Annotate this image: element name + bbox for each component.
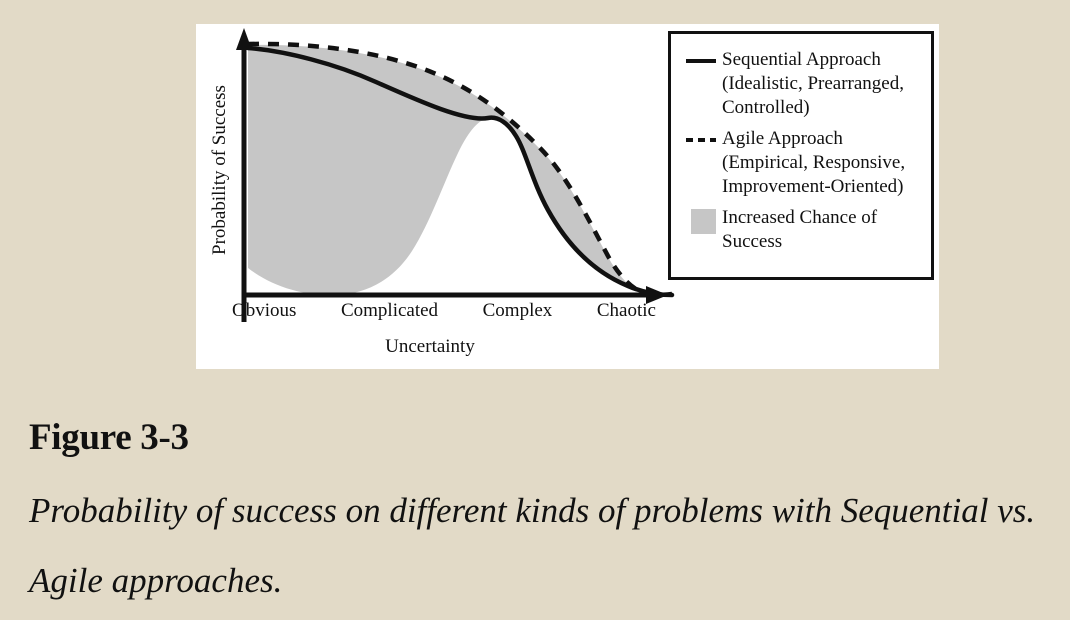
figure-caption-block: Figure 3-3 Probability of success on dif… <box>29 414 1049 616</box>
legend-entry-sequential-label: Sequential Approach (Idealistic, Prearra… <box>722 48 904 120</box>
legend-line: Success <box>722 230 877 254</box>
legend-entry-sequential: Sequential Approach (Idealistic, Prearra… <box>684 48 925 120</box>
figure-number: Figure 3-3 <box>29 414 1049 462</box>
legend-line: Sequential Approach <box>722 48 904 72</box>
x-axis-tick-labels: Obvious Complicated Complex Chaotic <box>232 300 656 322</box>
figure-panel: Probability of Success Obvious Complicat… <box>196 24 939 369</box>
x-tick-label-complicated: Complicated <box>341 300 438 322</box>
legend-line: Controlled) <box>722 96 904 120</box>
legend-entry-increased-chance-label: Increased Chance of Success <box>722 206 877 254</box>
gray-swatch-icon <box>684 206 722 230</box>
x-tick-label-complex: Complex <box>483 300 553 322</box>
x-axis-title: Uncertainty <box>196 336 664 358</box>
chart-legend: Sequential Approach (Idealistic, Prearra… <box>668 31 934 280</box>
legend-entry-increased-chance: Increased Chance of Success <box>684 206 925 254</box>
legend-line: Agile Approach <box>722 127 905 151</box>
legend-line: (Empirical, Responsive, <box>722 151 905 175</box>
legend-line: Increased Chance of <box>722 206 877 230</box>
legend-line: Improvement-Oriented) <box>722 175 905 199</box>
x-tick-label-obvious: Obvious <box>232 300 296 322</box>
legend-entry-agile: Agile Approach (Empirical, Responsive, I… <box>684 127 925 199</box>
y-axis-title: Probability of Success <box>209 60 231 280</box>
x-tick-label-chaotic: Chaotic <box>597 300 656 322</box>
figure-caption-text: Probability of success on different kind… <box>29 476 1049 616</box>
legend-entry-agile-label: Agile Approach (Empirical, Responsive, I… <box>722 127 905 199</box>
legend-line: (Idealistic, Prearranged, <box>722 72 904 96</box>
dashed-line-icon <box>684 127 722 151</box>
solid-line-icon <box>684 48 722 72</box>
